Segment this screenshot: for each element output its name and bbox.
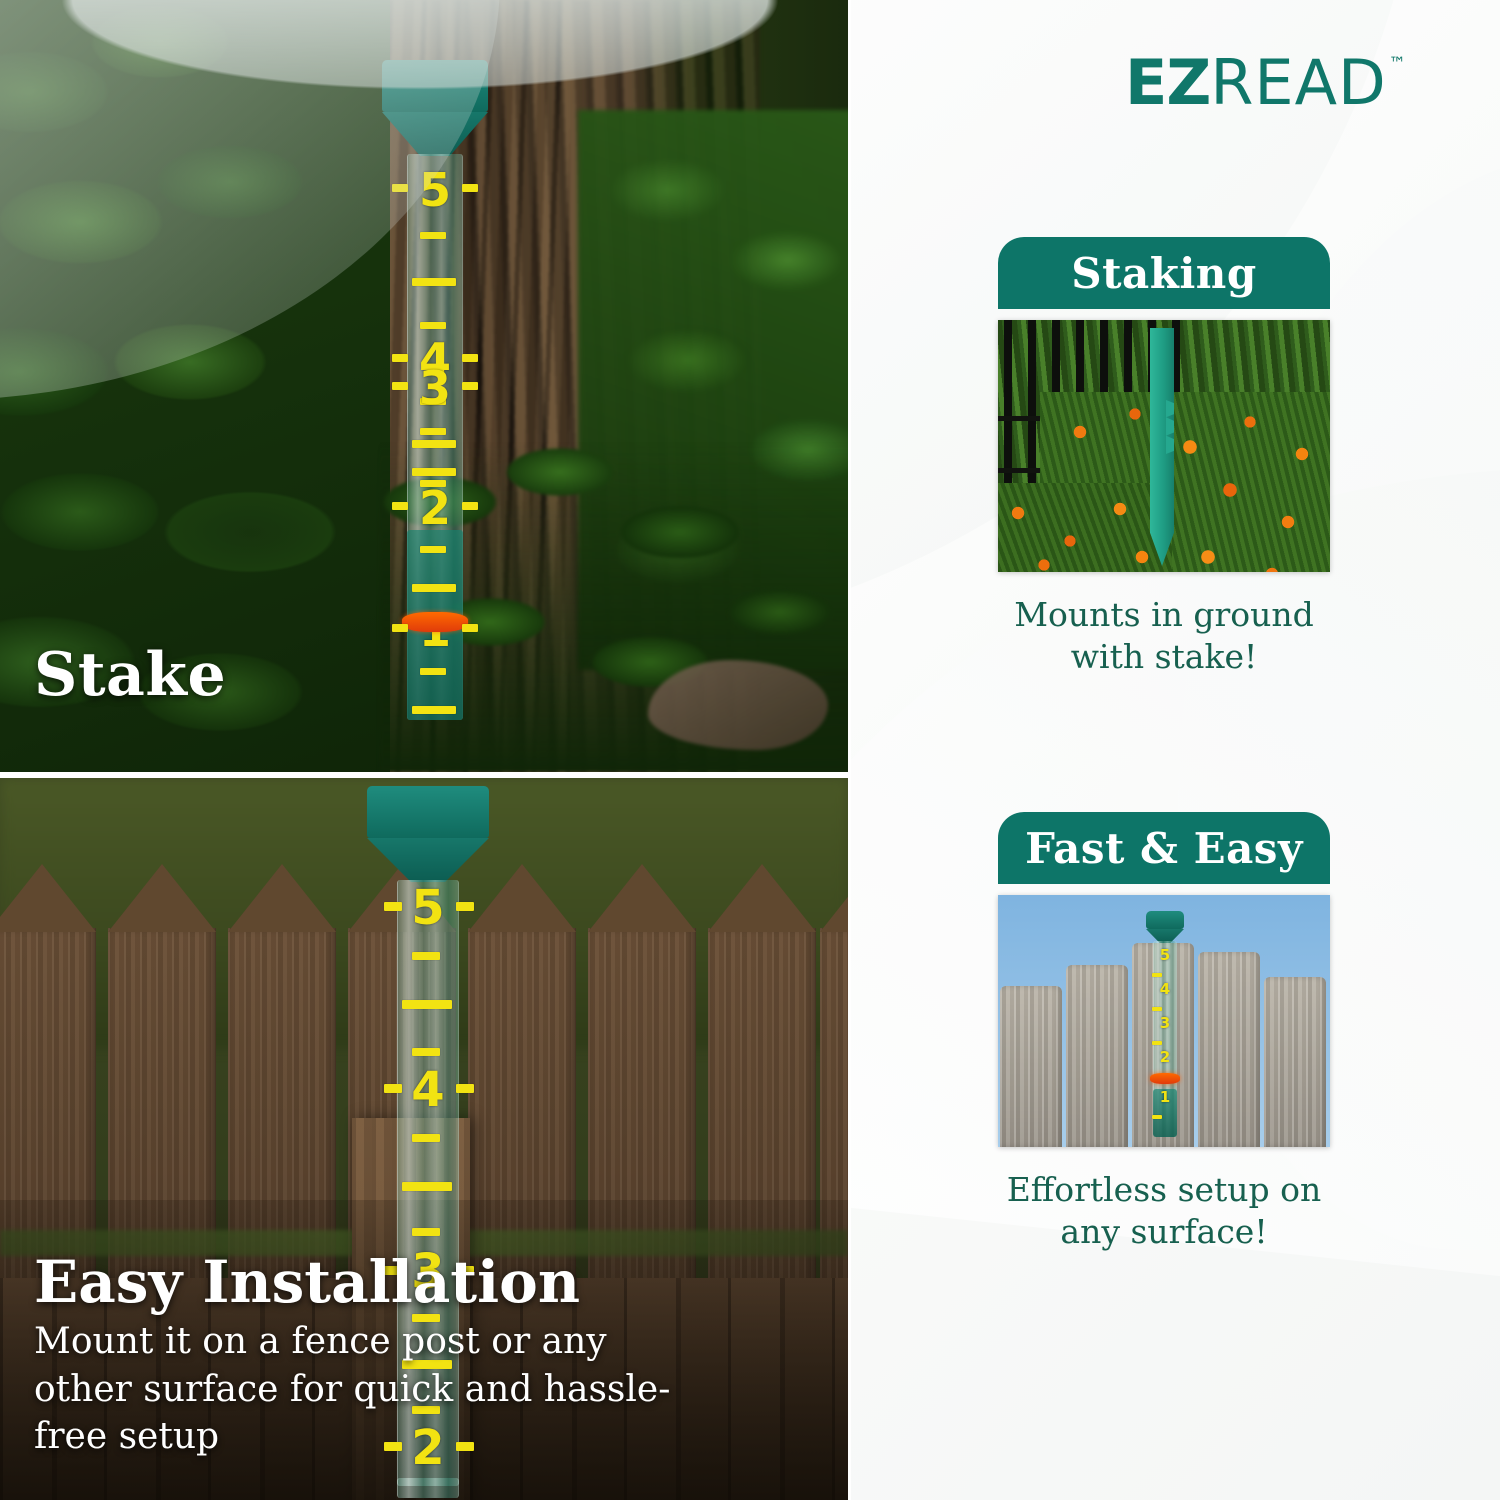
decorative-wave-overlay xyxy=(0,0,848,180)
easy-installation-body: Mount it on a fence post or any other su… xyxy=(34,1318,674,1461)
easy-installation-heading: Easy Installation xyxy=(34,1248,580,1316)
inset-photo-staking xyxy=(998,320,1330,572)
gauge-tick xyxy=(462,624,478,632)
gauge-scale: 5 4 3 2 1 xyxy=(1136,911,1194,1137)
gauge-tick xyxy=(392,382,408,390)
logo-text-read: READ xyxy=(1210,52,1386,114)
inset-photo-fast-easy: 5 4 3 2 1 xyxy=(998,895,1330,1147)
rain-gauge-on-fence: 5 4 3 2 1 xyxy=(1136,911,1194,1137)
gauge-tick xyxy=(462,382,478,390)
rock xyxy=(648,660,828,750)
gauge-tick xyxy=(1152,973,1162,977)
gauge-scale-lower: 3 2 1 xyxy=(370,340,500,720)
gauge-tick xyxy=(456,902,474,911)
green-ground-stake xyxy=(1150,328,1174,566)
gauge-tick xyxy=(420,232,446,239)
gauge-tube-lower xyxy=(397,1478,459,1498)
gauge-tick xyxy=(402,1000,452,1009)
gauge-tick xyxy=(1152,1041,1162,1045)
rain-gauge-scale-lower: 3 2 1 xyxy=(370,340,500,720)
gauge-tick xyxy=(462,184,478,192)
logo-text-ez: EZ xyxy=(1125,52,1210,114)
gauge-number: 1 xyxy=(1160,1088,1170,1106)
gauge-tick xyxy=(412,706,456,714)
gauge-number: 4 xyxy=(411,1062,444,1118)
fence-board xyxy=(1264,977,1326,1147)
gauge-tick xyxy=(412,1134,440,1142)
photo-stake: 5 4 3 xyxy=(0,0,848,772)
gauge-number: 4 xyxy=(1160,980,1170,998)
brand-logo: EZ READ ™ xyxy=(1125,52,1406,114)
gauge-tick xyxy=(412,1228,440,1236)
gauge-tick xyxy=(412,584,456,592)
photo-label-stake: Stake xyxy=(34,640,226,710)
trademark-symbol: ™ xyxy=(1389,56,1406,73)
float-marker xyxy=(1150,1073,1180,1084)
gauge-tick xyxy=(1152,1007,1162,1011)
gauge-number: 3 xyxy=(419,361,451,415)
fence-board xyxy=(1198,952,1260,1147)
left-photo-column: 5 4 3 xyxy=(0,0,848,1500)
column-divider xyxy=(848,0,851,1500)
rain-gauge-mounted-lower xyxy=(358,1478,498,1498)
feature-staking: Staking Mounts in ground with stake! xyxy=(998,237,1330,678)
gauge-number: 2 xyxy=(419,481,451,535)
gauge-tick xyxy=(412,952,440,960)
gauge-tick xyxy=(420,322,446,329)
fence-board xyxy=(1000,986,1062,1147)
right-info-column xyxy=(848,0,1500,1500)
fence-board xyxy=(1066,965,1128,1147)
gauge-tick xyxy=(420,546,446,553)
feature-fast-easy: Fast & Easy 5 4 3 2 xyxy=(998,812,1330,1253)
gauge-tick xyxy=(412,468,456,476)
gauge-tick xyxy=(384,902,402,911)
gauge-number: 5 xyxy=(1160,946,1170,964)
gauge-tick xyxy=(462,502,478,510)
caption-fast-easy: Effortless setup on any surface! xyxy=(998,1169,1330,1253)
gauge-tick xyxy=(420,668,446,675)
float-marker xyxy=(402,612,468,632)
gauge-tick xyxy=(412,1048,440,1056)
gauge-tick xyxy=(384,1084,402,1093)
gauge-tick xyxy=(412,278,456,286)
gauge-tick xyxy=(1152,1115,1162,1119)
badge-staking: Staking xyxy=(998,237,1330,309)
gauge-number: 3 xyxy=(1160,1014,1170,1032)
gauge-tick xyxy=(392,624,408,632)
badge-fast-easy: Fast & Easy xyxy=(998,812,1330,884)
gauge-tick xyxy=(456,1084,474,1093)
gauge-tick xyxy=(392,502,408,510)
gauge-number: 5 xyxy=(411,880,444,936)
marigold-flowers-left xyxy=(998,483,1172,572)
gauge-tick xyxy=(420,428,446,435)
caption-staking: Mounts in ground with stake! xyxy=(998,594,1330,678)
gauge-tick xyxy=(402,1182,452,1191)
product-infographic: 5 4 3 xyxy=(0,0,1500,1500)
gauge-number: 2 xyxy=(1160,1048,1170,1066)
